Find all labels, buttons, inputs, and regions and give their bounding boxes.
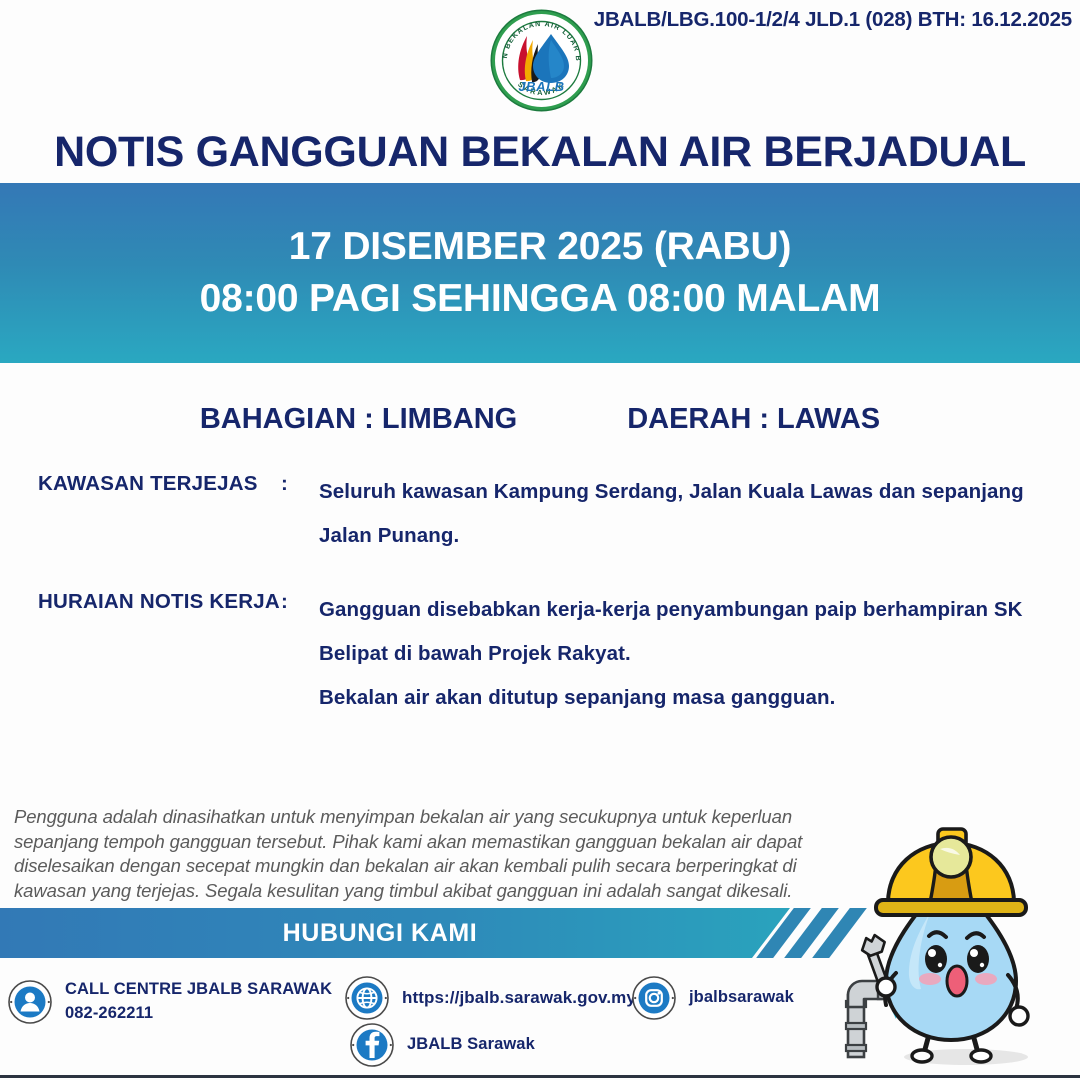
work-description-colon: : — [281, 588, 319, 614]
water-droplet-worker-mascot-icon — [826, 795, 1076, 1080]
facebook-handle[interactable]: JBALB Sarawak — [407, 1033, 535, 1057]
reference-number: JBALB/LBG.100-1/2/4 JLD.1 (028) BTH: 16.… — [594, 8, 1072, 32]
affected-area-body: Seluruh kawasan Kampung Serdang, Jalan K… — [319, 470, 1053, 558]
work-description-line-2: Belipat di bawah Projek Rakyat. — [319, 632, 1053, 676]
contact-bar-label: HUBUNGI KAMI — [0, 908, 760, 958]
call-centre-text: CALL CENTRE JBALB SARAWAK 082-262211 — [65, 978, 332, 1026]
instagram-handle[interactable]: jbalbsarawak — [689, 986, 794, 1010]
contact-bar: HUBUNGI KAMI — [0, 908, 840, 958]
banner-time: 08:00 PAGI SEHINGGA 08:00 MALAM — [200, 273, 881, 325]
affected-area-line-1: Seluruh kawasan Kampung Serdang, Jalan K… — [319, 470, 1053, 514]
notice-page: JBALB/LBG.100-1/2/4 JLD.1 (028) BTH: 16.… — [0, 0, 1080, 1080]
district-label: DAERAH : LAWAS — [627, 403, 880, 436]
bottom-divider — [0, 1075, 1080, 1078]
contact-facebook[interactable]: JBALB Sarawak — [350, 1023, 535, 1067]
page-header: JBALB/LBG.100-1/2/4 JLD.1 (028) BTH: 16.… — [0, 0, 1080, 118]
globe-icon — [345, 976, 389, 1020]
contact-call-centre[interactable]: CALL CENTRE JBALB SARAWAK 082-262211 — [8, 978, 332, 1026]
banner-date: 17 DISEMBER 2025 (RABU) — [289, 221, 792, 273]
call-centre-line-2: 082-262211 — [65, 1002, 332, 1026]
affected-area-line-2: Jalan Punang. — [319, 514, 1053, 558]
website-url[interactable]: https://jbalb.sarawak.gov.my/ — [402, 986, 641, 1011]
contact-instagram[interactable]: jbalbsarawak — [632, 976, 794, 1020]
page-title: NOTIS GANGGUAN BEKALAN AIR BERJADUAL — [0, 128, 1080, 177]
facebook-icon — [350, 1023, 394, 1067]
work-description-label: HURAIAN NOTIS KERJA — [38, 588, 281, 614]
contact-website[interactable]: https://jbalb.sarawak.gov.my/ — [345, 976, 641, 1020]
svg-text:JBALB: JBALB — [518, 79, 564, 94]
work-description-line-3: Bekalan air akan ditutup sepanjang masa … — [319, 676, 1053, 720]
affected-area-label: KAWASAN TERJEJAS — [38, 470, 281, 496]
work-description-field: HURAIAN NOTIS KERJA : Gangguan disebabka… — [38, 588, 1053, 720]
division-label: BAHAGIAN : LIMBANG — [200, 403, 517, 436]
schedule-banner: 17 DISEMBER 2025 (RABU) 08:00 PAGI SEHIN… — [0, 183, 1080, 363]
disclaimer-text: Pengguna adalah dinasihatkan untuk menyi… — [14, 805, 804, 903]
call-centre-line-1: CALL CENTRE JBALB SARAWAK — [65, 978, 332, 1002]
instagram-icon — [632, 976, 676, 1020]
jbalb-logo-icon: JABATAN BEKALAN AIR LUAR BANDAR SARAWAK … — [489, 8, 594, 113]
person-icon — [8, 980, 52, 1024]
region-row: BAHAGIAN : LIMBANG DAERAH : LAWAS — [0, 403, 1080, 436]
affected-area-colon: : — [281, 470, 319, 496]
affected-area-field: KAWASAN TERJEJAS : Seluruh kawasan Kampu… — [38, 470, 1053, 558]
work-description-line-1: Gangguan disebabkan kerja-kerja penyambu… — [319, 588, 1053, 632]
work-description-body: Gangguan disebabkan kerja-kerja penyambu… — [319, 588, 1053, 720]
